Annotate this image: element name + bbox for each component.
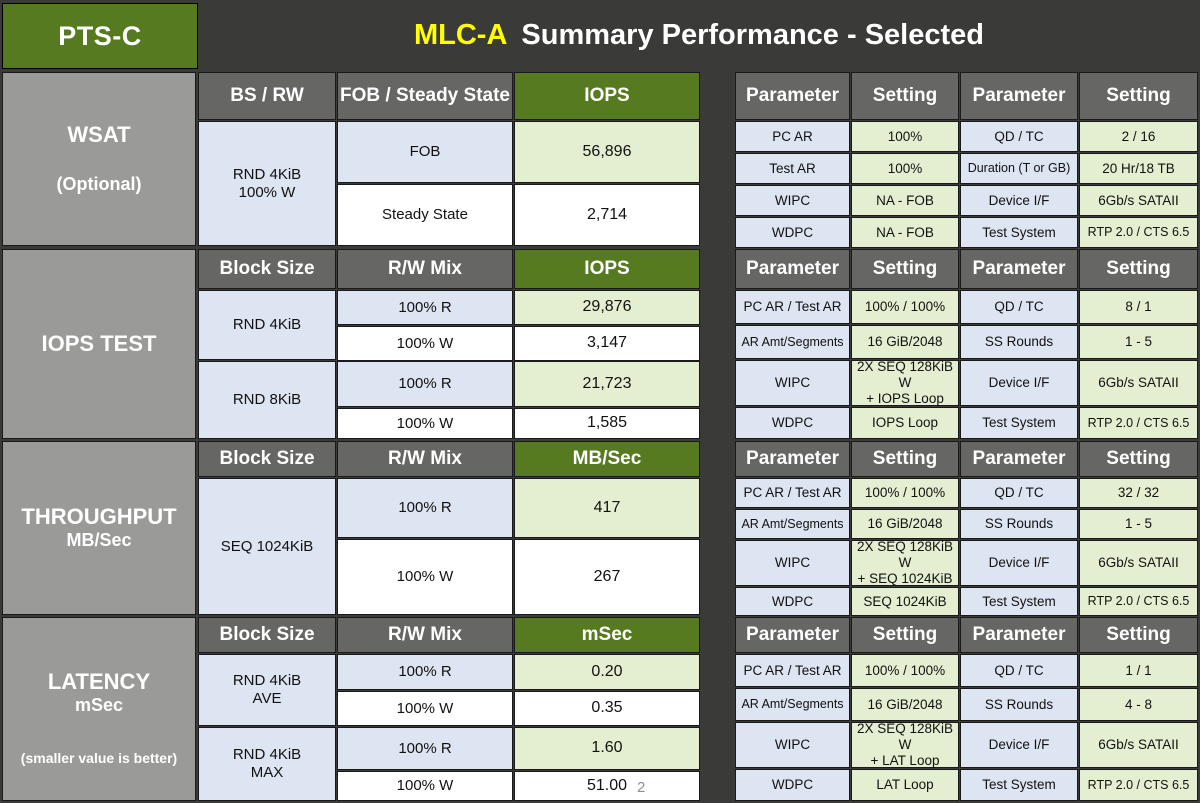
col-header-wsat-bsrw: BS / RW xyxy=(198,72,336,120)
wsat-param-2b-setting: 6Gb/s SATAII xyxy=(1079,185,1198,216)
wsat-param-0-name: PC AR xyxy=(735,121,850,152)
latency-param-1b-setting: 4 - 8 xyxy=(1079,688,1198,721)
page-title: MLC-A Summary Performance - Selected xyxy=(200,3,1198,67)
param-header-wsat-1: Setting xyxy=(851,72,959,120)
throughput-param-1b-setting: 1 - 5 xyxy=(1079,509,1198,539)
throughput-param-0-setting: 100% / 100% xyxy=(851,478,959,508)
latency-param-2-setting: 2X SEQ 128KiB W + LAT Loop xyxy=(851,722,959,768)
latency-param-1b-name: SS Rounds xyxy=(960,688,1078,721)
wsat-param-0b-setting: 2 / 16 xyxy=(1079,121,1198,152)
col-header-throughput-blocksize: Block Size xyxy=(198,441,336,477)
throughput-block-size: SEQ 1024KiB xyxy=(198,478,336,615)
latency-group-1-row-1-value: 51.00 xyxy=(514,771,700,801)
param-header-wsat-3: Setting xyxy=(1079,72,1198,120)
iops-param-2b-name: Device I/F xyxy=(960,360,1078,406)
iops-group-0-row-1-value: 3,147 xyxy=(514,326,700,361)
throughput-row-0-mix: 100% R xyxy=(337,478,513,538)
wsat-block-size: RND 4KiB 100% W xyxy=(198,121,336,246)
wsat-param-2-setting: NA - FOB xyxy=(851,185,959,216)
summary-performance-sheet: PTS-C MLC-A Summary Performance - Select… xyxy=(0,0,1200,803)
throughput-param-0b-name: QD / TC xyxy=(960,478,1078,508)
param-header-throughput-1: Setting xyxy=(851,441,959,477)
wsat-param-1b-setting: 20 Hr/18 TB xyxy=(1079,153,1198,184)
iops-group-1-row-0-mix: 100% R xyxy=(337,361,513,407)
iops-param-1-setting: 16 GiB/2048 xyxy=(851,325,959,359)
param-header-iops-2: Parameter xyxy=(960,249,1078,289)
category-throughput-line1: THROUGHPUT xyxy=(21,504,176,530)
wsat-param-0-setting: 100% xyxy=(851,121,959,152)
latency-param-3-name: WDPC xyxy=(735,769,850,801)
iops-param-3b-name: Test System xyxy=(960,407,1078,439)
iops-group-0-row-0-mix: 100% R xyxy=(337,290,513,325)
iops-group-1-row-1-value: 1,585 xyxy=(514,408,700,439)
latency-group-1-block: RND 4KiB MAX xyxy=(198,727,336,801)
latency-group-1-row-0-mix: 100% R xyxy=(337,727,513,770)
latency-group-1-block-line1: RND 4KiB xyxy=(233,746,301,764)
throughput-param-1b-name: SS Rounds xyxy=(960,509,1078,539)
iops-param-2-setting: 2X SEQ 128KiB W + IOPS Loop xyxy=(851,360,959,406)
latency-param-3b-setting: RTP 2.0 / CTS 6.5 xyxy=(1079,769,1198,801)
param-header-throughput-3: Setting xyxy=(1079,441,1198,477)
param-header-iops-1: Setting xyxy=(851,249,959,289)
wsat-row-1-mix: Steady State xyxy=(337,184,513,246)
wsat-param-1-name: Test AR xyxy=(735,153,850,184)
col-header-latency-msec: mSec xyxy=(514,617,700,653)
param-header-latency-3: Setting xyxy=(1079,617,1198,653)
param-header-iops-0: Parameter xyxy=(735,249,850,289)
wsat-param-3b-name: Test System xyxy=(960,217,1078,248)
throughput-row-1-value: 267 xyxy=(514,539,700,615)
wsat-row-0-mix: FOB xyxy=(337,121,513,183)
throughput-param-2-setting: 2X SEQ 128KiB W + SEQ 1024KiB xyxy=(851,540,959,586)
latency-param-1-setting: 16 GiB/2048 xyxy=(851,688,959,721)
category-wsat-line2: (Optional) xyxy=(57,174,142,195)
category-latency-line1: LATENCY xyxy=(48,669,150,695)
title-text: Summary Performance - Selected xyxy=(521,19,984,52)
throughput-param-3b-setting: RTP 2.0 / CTS 6.5 xyxy=(1079,587,1198,616)
iops-param-1b-setting: 1 - 5 xyxy=(1079,325,1198,359)
col-header-latency-rwmix: R/W Mix xyxy=(337,617,513,653)
brand-label: PTS-C xyxy=(58,21,142,52)
iops-group-0-row-0-value: 29,876 xyxy=(514,290,700,325)
iops-param-0b-name: QD / TC xyxy=(960,290,1078,324)
iops-group-1-block: RND 8KiB xyxy=(198,361,336,439)
wsat-block-line2: 100% W xyxy=(239,184,296,202)
wsat-param-1b-name: Duration (T or GB) xyxy=(960,153,1078,184)
col-header-iops-rwmix: R/W Mix xyxy=(337,249,513,289)
wsat-param-1-setting: 100% xyxy=(851,153,959,184)
category-throughput-line2: MB/Sec xyxy=(66,530,131,551)
category-latency: LATENCY mSec (smaller value is better) xyxy=(2,617,196,801)
throughput-row-0-value: 417 xyxy=(514,478,700,538)
throughput-param-3-setting: SEQ 1024KiB xyxy=(851,587,959,616)
iops-param-0-setting: 100% / 100% xyxy=(851,290,959,324)
latency-group-1-block-line2: MAX xyxy=(251,764,284,782)
throughput-param-1-name: AR Amt/Segments xyxy=(735,509,850,539)
iops-param-2b-setting: 6Gb/s SATAII xyxy=(1079,360,1198,406)
latency-param-1-name: AR Amt/Segments xyxy=(735,688,850,721)
latency-group-0-block-line1: RND 4KiB xyxy=(233,672,301,690)
wsat-param-3-name: WDPC xyxy=(735,217,850,248)
iops-param-3b-setting: RTP 2.0 / CTS 6.5 xyxy=(1079,407,1198,439)
wsat-param-3b-setting: RTP 2.0 / CTS 6.5 xyxy=(1079,217,1198,248)
throughput-param-2b-name: Device I/F xyxy=(960,540,1078,586)
param-header-latency-1: Setting xyxy=(851,617,959,653)
col-header-iops-blocksize: Block Size xyxy=(198,249,336,289)
latency-group-0-block: RND 4KiB AVE xyxy=(198,654,336,726)
param-header-wsat-0: Parameter xyxy=(735,72,850,120)
latency-param-0b-setting: 1 / 1 xyxy=(1079,654,1198,687)
category-latency-note: (smaller value is better) xyxy=(21,750,177,767)
param-header-wsat-2: Parameter xyxy=(960,72,1078,120)
latency-param-2-name: WIPC xyxy=(735,722,850,768)
iops-param-0-name: PC AR / Test AR xyxy=(735,290,850,324)
iops-group-1-row-0-value: 21,723 xyxy=(514,361,700,407)
param-header-iops-3: Setting xyxy=(1079,249,1198,289)
wsat-block-line1: RND 4KiB xyxy=(233,166,301,184)
page-number: 2 xyxy=(637,779,645,796)
category-wsat: WSAT (Optional) xyxy=(2,72,196,246)
category-latency-line2: mSec xyxy=(75,695,123,716)
col-header-throughput-rwmix: R/W Mix xyxy=(337,441,513,477)
iops-param-0b-setting: 8 / 1 xyxy=(1079,290,1198,324)
param-header-latency-2: Parameter xyxy=(960,617,1078,653)
iops-param-1b-name: SS Rounds xyxy=(960,325,1078,359)
latency-param-3b-name: Test System xyxy=(960,769,1078,801)
latency-group-0-row-1-mix: 100% W xyxy=(337,691,513,726)
iops-param-3-name: WDPC xyxy=(735,407,850,439)
wsat-param-0b-name: QD / TC xyxy=(960,121,1078,152)
col-header-latency-blocksize: Block Size xyxy=(198,617,336,653)
category-iops-test: IOPS TEST xyxy=(2,249,196,439)
throughput-param-1-setting: 16 GiB/2048 xyxy=(851,509,959,539)
throughput-param-0-name: PC AR / Test AR xyxy=(735,478,850,508)
wsat-param-2b-name: Device I/F xyxy=(960,185,1078,216)
col-header-wsat-fobss: FOB / Steady State xyxy=(337,72,513,120)
latency-group-1-row-0-value: 1.60 xyxy=(514,727,700,770)
latency-param-2b-setting: 6Gb/s SATAII xyxy=(1079,722,1198,768)
latency-group-1-row-1-mix: 100% W xyxy=(337,771,513,801)
latency-param-0-name: PC AR / Test AR xyxy=(735,654,850,687)
latency-param-2b-name: Device I/F xyxy=(960,722,1078,768)
brand-badge: PTS-C xyxy=(2,3,198,69)
wsat-row-0-value: 56,896 xyxy=(514,121,700,183)
iops-param-1-name: AR Amt/Segments xyxy=(735,325,850,359)
param-header-throughput-2: Parameter xyxy=(960,441,1078,477)
col-header-throughput-mbsec: MB/Sec xyxy=(514,441,700,477)
iops-group-1-row-1-mix: 100% W xyxy=(337,408,513,439)
iops-param-2-name: WIPC xyxy=(735,360,850,406)
col-header-iops-iops: IOPS xyxy=(514,249,700,289)
iops-group-0-block: RND 4KiB xyxy=(198,290,336,360)
wsat-param-2-name: WIPC xyxy=(735,185,850,216)
throughput-param-0b-setting: 32 / 32 xyxy=(1079,478,1198,508)
wsat-param-3-setting: NA - FOB xyxy=(851,217,959,248)
title-bar: PTS-C MLC-A Summary Performance - Select… xyxy=(0,0,1200,70)
iops-group-0-row-1-mix: 100% W xyxy=(337,326,513,361)
wsat-row-1-value: 2,714 xyxy=(514,184,700,246)
iops-param-3-setting: IOPS Loop xyxy=(851,407,959,439)
param-header-throughput-0: Parameter xyxy=(735,441,850,477)
latency-param-0-setting: 100% / 100% xyxy=(851,654,959,687)
throughput-param-2-name: WIPC xyxy=(735,540,850,586)
param-header-latency-0: Parameter xyxy=(735,617,850,653)
throughput-row-1-mix: 100% W xyxy=(337,539,513,615)
latency-param-3-setting: LAT Loop xyxy=(851,769,959,801)
throughput-param-3b-name: Test System xyxy=(960,587,1078,616)
throughput-param-2b-setting: 6Gb/s SATAII xyxy=(1079,540,1198,586)
throughput-param-3-name: WDPC xyxy=(735,587,850,616)
category-throughput: THROUGHPUT MB/Sec xyxy=(2,441,196,615)
latency-param-0b-name: QD / TC xyxy=(960,654,1078,687)
category-wsat-line1: WSAT xyxy=(67,122,130,148)
col-header-wsat-iops: IOPS xyxy=(514,72,700,120)
latency-group-0-row-0-mix: 100% R xyxy=(337,654,513,690)
latency-group-0-block-line2: AVE xyxy=(253,690,282,708)
latency-group-0-row-1-value: 0.35 xyxy=(514,691,700,726)
category-iops-line1: IOPS TEST xyxy=(42,331,157,357)
title-highlight: MLC-A xyxy=(414,19,507,52)
latency-group-0-row-0-value: 0.20 xyxy=(514,654,700,690)
